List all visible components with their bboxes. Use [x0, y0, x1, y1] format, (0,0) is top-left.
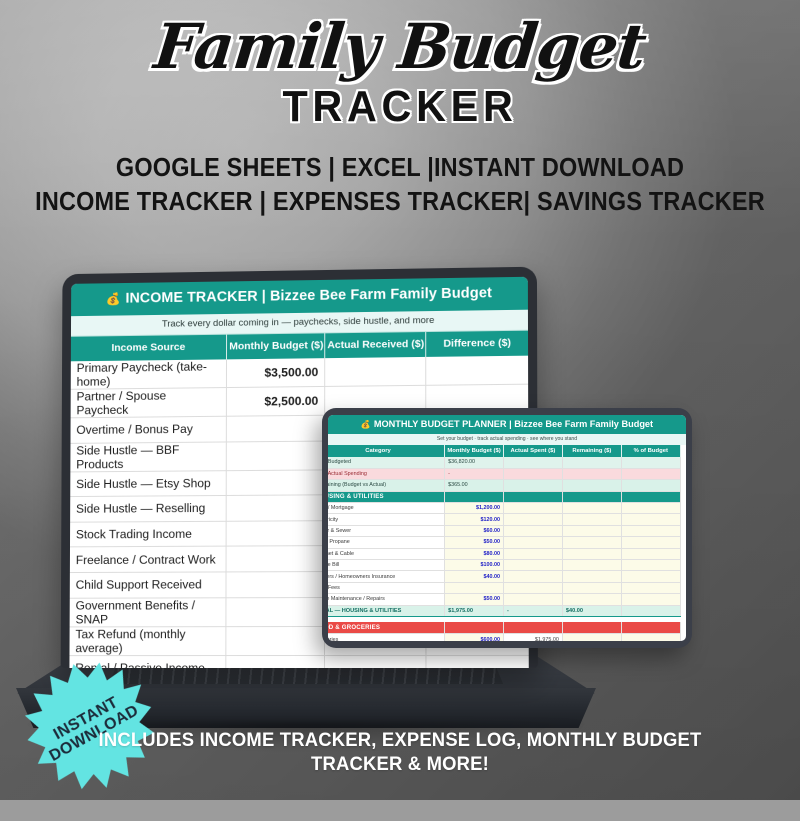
- monthly-budget-cell[interactable]: $120.00: [445, 514, 504, 525]
- table-row: Rent / Mortgage$1,200.00: [328, 503, 680, 514]
- monthly-budget-cell[interactable]: [226, 520, 324, 546]
- table-row: Water & Sewer$60.00: [328, 525, 680, 536]
- monthly-budget-cell[interactable]: [226, 655, 325, 668]
- section-blank-cell: [445, 622, 504, 633]
- income-tracker-title: INCOME TRACKER | Bizzee Bee Farm Family …: [125, 285, 492, 306]
- category-cell[interactable]: Gas / Propane: [328, 537, 445, 548]
- remaining-cell[interactable]: [562, 457, 621, 468]
- table-row: Electricity$120.00: [328, 514, 680, 525]
- difference-cell[interactable]: [426, 655, 529, 668]
- table-row: Internet & Cable$80.00: [328, 548, 680, 559]
- income-source-cell[interactable]: Stock Trading Income: [70, 521, 226, 547]
- monthly-budget-cell[interactable]: $1,975.00: [445, 605, 504, 616]
- monthly-budget-cell[interactable]: $80.00: [445, 548, 504, 559]
- monthly-budget-cell[interactable]: $100.00: [445, 560, 504, 571]
- actual-spent-cell[interactable]: [503, 582, 562, 593]
- monthly-budget-cell[interactable]: $50.00: [445, 537, 504, 548]
- budget-planner-subtitle: Set your budget · track actual spending …: [328, 434, 686, 445]
- category-cell[interactable]: Phone Bill: [328, 560, 445, 571]
- monthly-budget-cell[interactable]: $2,500.00: [227, 386, 325, 416]
- summary-row: Remaining (Budget vs Actual)$365.00: [328, 480, 680, 491]
- money-bag-icon: 💰: [361, 420, 371, 429]
- category-cell[interactable]: Water & Sewer: [328, 525, 445, 536]
- actual-received-cell[interactable]: [325, 655, 427, 668]
- remaining-cell[interactable]: $40.00: [562, 605, 621, 616]
- col-pct-of-budget: % of Budget: [621, 445, 680, 457]
- actual-spent-cell[interactable]: [503, 594, 562, 605]
- pct-of-budget-cell[interactable]: [621, 468, 680, 479]
- section-blank-cell: [503, 622, 562, 633]
- income-source-cell[interactable]: Partner / Spouse Paycheck: [71, 388, 227, 418]
- actual-spent-cell[interactable]: -: [503, 605, 562, 616]
- pct-of-budget-cell[interactable]: [621, 480, 680, 491]
- col-monthly-budget: Monthly Budget ($): [227, 333, 325, 359]
- pct-of-budget-cell[interactable]: [621, 457, 680, 468]
- income-source-cell[interactable]: Side Hustle — Reselling: [70, 496, 226, 522]
- section-blank-cell: [562, 491, 621, 502]
- tablet-mockup: 💰MONTHLY BUDGET PLANNER | Bizzee Bee Far…: [322, 408, 692, 648]
- remaining-cell[interactable]: [562, 514, 621, 525]
- income-source-cell[interactable]: Government Benefits / SNAP: [70, 597, 227, 626]
- col-remaining: Remaining ($): [562, 445, 621, 457]
- feature-line-2: INCOME TRACKER | EXPENSES TRACKER| SAVIN…: [32, 186, 768, 220]
- table-row: Phone Bill$100.00: [328, 560, 680, 571]
- category-cell[interactable]: TOTAL — HOUSING & UTILITIES: [328, 605, 445, 616]
- footer-text: INCLUDES INCOME TRACKER, EXPENSE LOG, MO…: [0, 729, 800, 778]
- monthly-budget-cell[interactable]: $36,820.00: [445, 457, 504, 468]
- category-cell[interactable]: Renters / Homeowners Insurance: [328, 571, 445, 582]
- income-source-cell[interactable]: Primary Paycheck (take-home): [71, 359, 227, 389]
- pct-of-budget-cell[interactable]: [621, 594, 680, 605]
- section-blank-cell: [445, 491, 504, 502]
- budget-planner-table: Category Monthly Budget ($) Actual Spent…: [328, 445, 681, 641]
- income-source-cell[interactable]: Side Hustle — Etsy Shop: [70, 470, 226, 496]
- category-cell[interactable]: Total Actual Spending: [328, 468, 445, 479]
- col-difference: Difference ($): [426, 331, 528, 357]
- category-cell[interactable]: HOA Fees: [328, 582, 445, 593]
- section-title: HOUSING & UTILITIES: [328, 491, 445, 502]
- monthly-budget-cell[interactable]: [226, 597, 325, 626]
- category-cell[interactable]: Groceries: [328, 634, 445, 641]
- col-actual-received: Actual Received ($): [325, 332, 426, 358]
- monthly-budget-cell[interactable]: [226, 546, 324, 572]
- monthly-budget-cell[interactable]: [226, 572, 324, 598]
- monthly-budget-cell[interactable]: $600.00: [445, 634, 504, 641]
- remaining-cell[interactable]: [562, 634, 621, 641]
- budget-planner-title: MONTHLY BUDGET PLANNER | Bizzee Bee Farm…: [374, 419, 653, 429]
- category-cell[interactable]: Total Budgeted: [328, 457, 445, 468]
- summary-row: Total Budgeted$36,820.00: [328, 457, 680, 468]
- monthly-budget-cell[interactable]: [226, 470, 324, 496]
- headline: Family Budget TRACKER: [0, 14, 800, 129]
- tablet-screen: 💰MONTHLY BUDGET PLANNER | Bizzee Bee Far…: [328, 415, 686, 641]
- feature-line-1: GOOGLE SHEETS | EXCEL |INSTANT DOWNLOAD: [32, 152, 768, 186]
- remaining-cell[interactable]: [562, 571, 621, 582]
- col-category: Category: [328, 445, 445, 457]
- actual-spent-cell[interactable]: [503, 548, 562, 559]
- income-source-cell[interactable]: Child Support Received: [70, 572, 226, 598]
- monthly-budget-cell[interactable]: -: [445, 468, 504, 479]
- section-blank-cell: [562, 622, 621, 633]
- monthly-budget-cell[interactable]: [226, 441, 324, 471]
- table-row: HOA Fees: [328, 582, 680, 593]
- actual-spent-cell[interactable]: [503, 525, 562, 536]
- pct-of-budget-cell[interactable]: [621, 571, 680, 582]
- monthly-budget-cell[interactable]: $1,200.00: [445, 503, 504, 514]
- monthly-budget-cell[interactable]: $365.00: [445, 480, 504, 491]
- remaining-cell[interactable]: [562, 468, 621, 479]
- section-total-row: TOTAL — HOUSING & UTILITIES$1,975.00-$40…: [328, 605, 680, 616]
- section-title: FOOD & GROCERIES: [328, 622, 445, 633]
- footer-line-1: INCLUDES INCOME TRACKER, EXPENSE LOG, MO…: [12, 729, 788, 754]
- remaining-cell[interactable]: [562, 525, 621, 536]
- pct-of-budget-cell[interactable]: [621, 503, 680, 514]
- pct-of-budget-cell[interactable]: [621, 560, 680, 571]
- page-title-block: TRACKER: [24, 85, 776, 129]
- section-blank-cell: [621, 622, 680, 633]
- pct-of-budget-cell[interactable]: [621, 514, 680, 525]
- actual-spent-cell[interactable]: [503, 503, 562, 514]
- footer-line-2: TRACKER & MORE!: [12, 753, 788, 778]
- actual-spent-cell[interactable]: [503, 480, 562, 491]
- monthly-budget-cell[interactable]: [226, 626, 325, 655]
- actual-spent-cell[interactable]: [503, 571, 562, 582]
- col-monthly-budget: Monthly Budget ($): [445, 445, 504, 457]
- actual-received-cell[interactable]: [325, 357, 426, 387]
- money-bag-icon: 💰: [106, 292, 121, 306]
- actual-spent-cell[interactable]: [503, 468, 562, 479]
- pct-of-budget-cell[interactable]: [621, 634, 680, 641]
- budget-planner-title-bar: 💰MONTHLY BUDGET PLANNER | Bizzee Bee Far…: [328, 415, 686, 434]
- table-row: Gas / Propane$50.00: [328, 537, 680, 548]
- actual-spent-cell[interactable]: [503, 457, 562, 468]
- monthly-budget-cell[interactable]: [445, 582, 504, 593]
- actual-spent-cell[interactable]: [503, 514, 562, 525]
- pct-of-budget-cell[interactable]: [621, 582, 680, 593]
- section-header-row: HOUSING & UTILITIES: [328, 491, 680, 502]
- monthly-budget-cell[interactable]: $40.00: [445, 571, 504, 582]
- income-source-cell[interactable]: Side Hustle — BBF Products: [70, 442, 226, 472]
- category-cell[interactable]: Remaining (Budget vs Actual): [328, 480, 445, 491]
- actual-spent-cell[interactable]: [503, 560, 562, 571]
- pct-of-budget-cell[interactable]: [621, 548, 680, 559]
- monthly-budget-cell[interactable]: $60.00: [445, 525, 504, 536]
- remaining-cell[interactable]: [562, 480, 621, 491]
- remaining-cell[interactable]: [562, 594, 621, 605]
- remaining-cell[interactable]: [562, 582, 621, 593]
- feature-lines: GOOGLE SHEETS | EXCEL |INSTANT DOWNLOAD …: [0, 152, 800, 219]
- category-cell[interactable]: Internet & Cable: [328, 548, 445, 559]
- category-cell[interactable]: Home Maintenance / Repairs: [328, 594, 445, 605]
- budget-table-header-row: Category Monthly Budget ($) Actual Spent…: [328, 445, 680, 457]
- remaining-cell[interactable]: [562, 537, 621, 548]
- remaining-cell[interactable]: [562, 548, 621, 559]
- monthly-budget-cell[interactable]: $50.00: [445, 594, 504, 605]
- category-cell[interactable]: Rent / Mortgage: [328, 503, 445, 514]
- monthly-budget-cell[interactable]: [227, 415, 325, 441]
- col-income-source: Income Source: [71, 335, 227, 362]
- remaining-cell[interactable]: [562, 560, 621, 571]
- section-header-row: FOOD & GROCERIES: [328, 622, 680, 633]
- page-title-script: Family Budget: [0, 14, 800, 79]
- remaining-cell[interactable]: [562, 503, 621, 514]
- table-row: Groceries$600.00$1,975.00: [328, 634, 680, 641]
- difference-cell[interactable]: [426, 356, 528, 386]
- pct-of-budget-cell[interactable]: [621, 605, 680, 616]
- col-actual-spent: Actual Spent ($): [503, 445, 562, 457]
- pct-of-budget-cell[interactable]: [621, 525, 680, 536]
- actual-spent-cell[interactable]: $1,975.00: [503, 634, 562, 641]
- income-source-cell[interactable]: Overtime / Bonus Pay: [70, 416, 226, 443]
- category-cell[interactable]: Electricity: [328, 514, 445, 525]
- summary-row: Total Actual Spending-: [328, 468, 680, 479]
- table-row: Renters / Homeowners Insurance$40.00: [328, 571, 680, 582]
- table-row: Home Maintenance / Repairs$50.00: [328, 594, 680, 605]
- pct-of-budget-cell[interactable]: [621, 537, 680, 548]
- monthly-budget-cell[interactable]: $3,500.00: [227, 358, 325, 387]
- income-source-cell[interactable]: Freelance / Contract Work: [70, 546, 226, 572]
- section-blank-cell: [621, 491, 680, 502]
- monthly-budget-cell[interactable]: [226, 495, 324, 521]
- actual-spent-cell[interactable]: [503, 537, 562, 548]
- section-blank-cell: [503, 491, 562, 502]
